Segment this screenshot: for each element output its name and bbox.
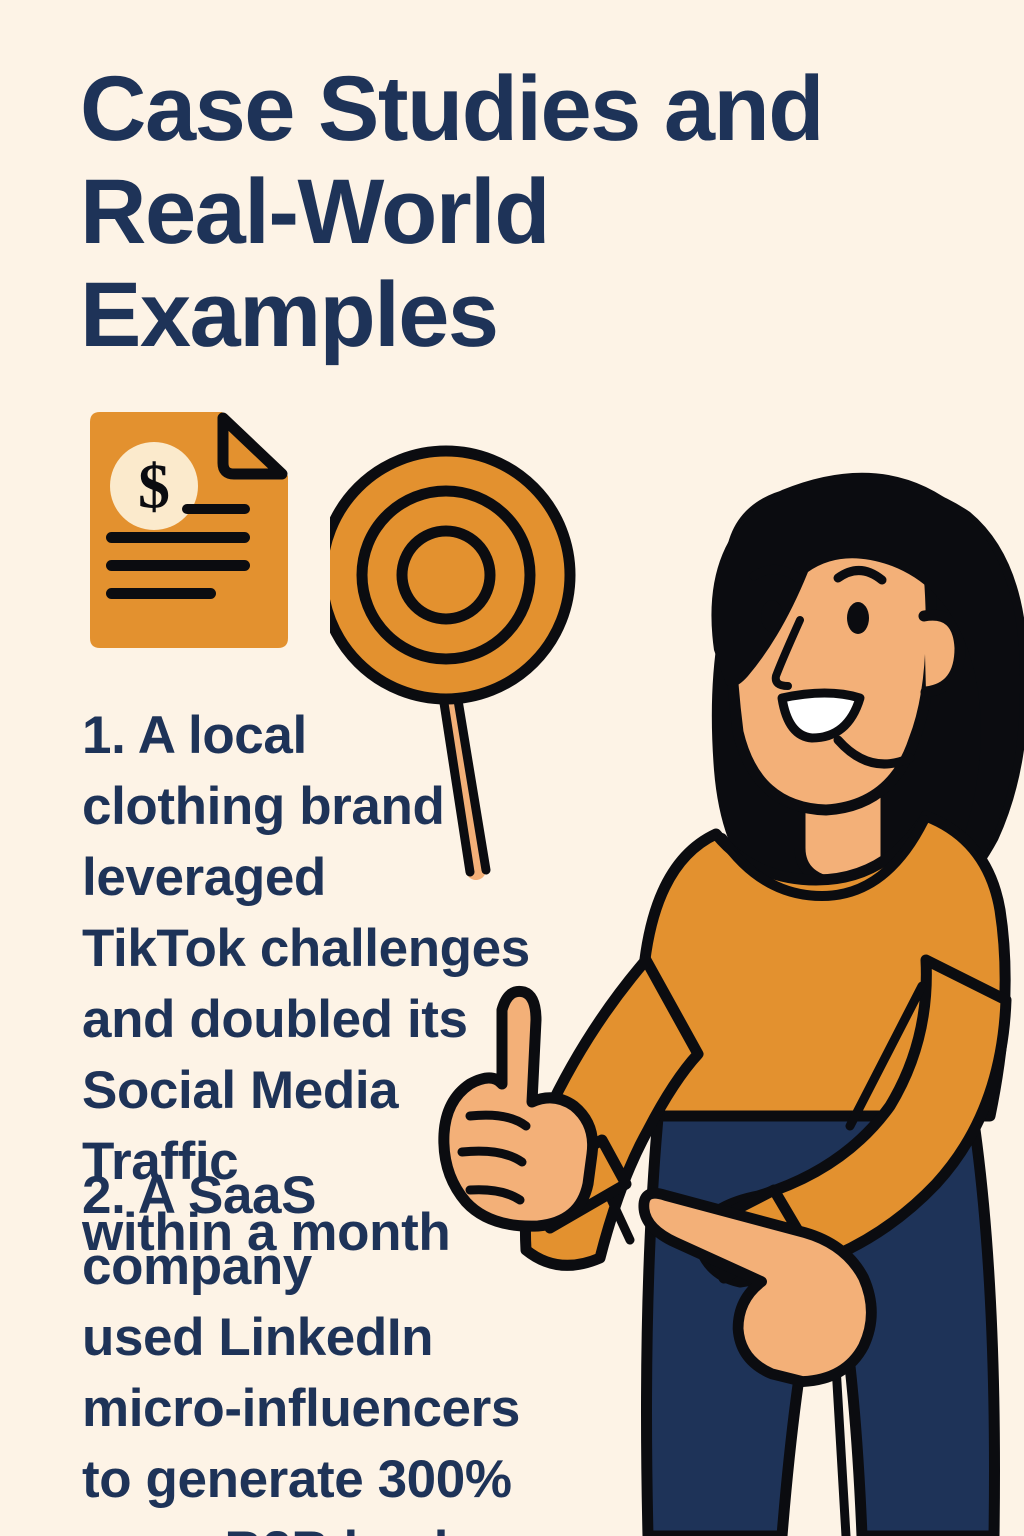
- document-dollar-icon: $: [82, 408, 292, 652]
- eye-left: [761, 600, 783, 632]
- document-fold-corner: [223, 418, 282, 474]
- document-line-4: [106, 588, 216, 599]
- document-line-1: [182, 504, 250, 514]
- ear: [924, 615, 960, 692]
- case-study-item-2: 2. A SaaS company used LinkedIn micro-in…: [82, 1160, 552, 1536]
- eye-right: [847, 602, 869, 634]
- document-line-2: [106, 532, 250, 543]
- target-ring-inner: [402, 531, 490, 619]
- dollar-sign-glyph: $: [138, 451, 170, 522]
- page-title: Case Studies and Real-World Examples: [80, 58, 900, 367]
- document-line-3: [106, 560, 250, 571]
- infographic-poster: Case Studies and Real-World Examples $: [0, 0, 1024, 1536]
